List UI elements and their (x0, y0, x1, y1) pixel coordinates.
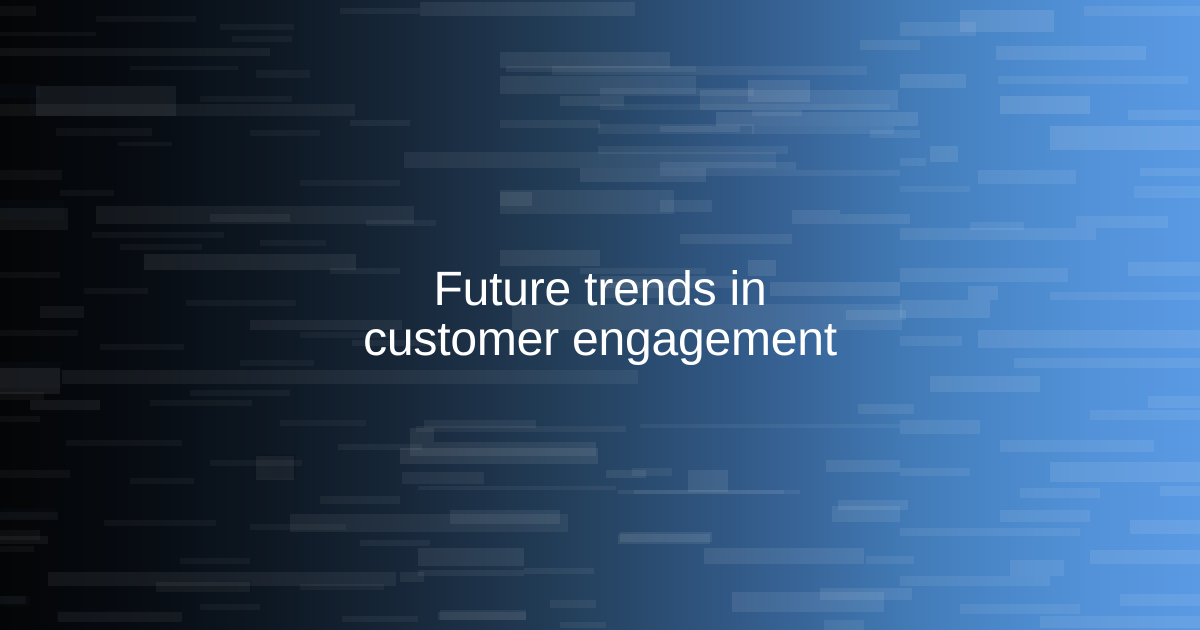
texture-bar (732, 592, 884, 612)
texture-bar (420, 2, 635, 16)
texture-bar (660, 162, 796, 170)
texture-bar (550, 600, 596, 608)
texture-bar (866, 556, 914, 564)
texture-bar (352, 340, 442, 346)
texture-bar (96, 206, 414, 224)
texture-bar (100, 344, 184, 350)
texture-bar (330, 268, 400, 274)
texture-bar (900, 74, 966, 88)
texture-bar (858, 404, 914, 414)
texture-bar (770, 282, 900, 296)
texture-bar (96, 16, 196, 22)
texture-bar (0, 84, 40, 98)
texture-bar (1084, 6, 1200, 16)
texture-bar (900, 22, 976, 36)
texture-bar (792, 210, 840, 224)
texture-bar (0, 508, 56, 518)
texture-bar (404, 152, 776, 168)
texture-bar (0, 416, 40, 422)
texture-bar (1000, 510, 1090, 522)
texture-bar (632, 468, 672, 476)
background-streak-texture (0, 0, 1200, 630)
texture-bar (290, 514, 568, 532)
texture-bar (400, 572, 424, 582)
texture-bar (40, 306, 84, 318)
texture-bar (200, 96, 292, 102)
texture-bar (190, 390, 290, 396)
texture-bar (688, 470, 728, 492)
texture-bar (930, 146, 958, 162)
texture-bar (598, 124, 754, 134)
texture-bar (748, 80, 810, 102)
texture-bar (900, 468, 970, 476)
texture-bar (1000, 440, 1154, 452)
texture-bar (506, 66, 696, 72)
texture-bar (400, 448, 598, 464)
texture-bar (300, 180, 400, 186)
texture-bar (598, 146, 788, 154)
texture-bar (900, 528, 1080, 536)
texture-bar (1076, 216, 1168, 228)
texture-bar (360, 540, 430, 546)
texture-bar (342, 616, 418, 622)
texture-bar (832, 506, 900, 522)
texture-bar (418, 570, 524, 576)
texture-bar (500, 192, 532, 206)
texture-bar (618, 490, 784, 494)
texture-bar (606, 470, 646, 478)
texture-bar (300, 584, 384, 590)
texture-bar (968, 286, 998, 300)
texture-bar (900, 300, 990, 318)
texture-bar (0, 470, 70, 478)
texture-bar (660, 126, 740, 132)
texture-bar (1134, 186, 1200, 198)
texture-bar (30, 400, 100, 410)
texture-bar (660, 170, 900, 176)
texture-bar (84, 288, 148, 294)
texture-bar (846, 310, 906, 320)
texture-bar (680, 234, 792, 244)
texture-bar (600, 276, 736, 288)
texture-bar (600, 104, 890, 110)
texture-bar (900, 268, 1068, 282)
texture-bar (1020, 488, 1100, 498)
texture-bar (440, 610, 526, 620)
texture-bar (500, 190, 674, 214)
texture-bar (240, 360, 314, 366)
texture-bar (0, 596, 30, 606)
texture-bar (618, 534, 710, 544)
texture-bar (0, 32, 96, 36)
texture-bar (752, 110, 802, 116)
texture-bar (1014, 358, 1200, 368)
texture-bar (1120, 594, 1200, 606)
texture-bar (256, 456, 294, 480)
texture-bar (232, 36, 292, 42)
texture-bar (620, 532, 712, 542)
texture-bar (978, 170, 1076, 184)
texture-bar (0, 536, 48, 544)
texture-bar (704, 548, 864, 564)
texture-bar (0, 330, 78, 336)
texture-bar (156, 582, 250, 592)
texture-bar (0, 392, 44, 400)
texture-bar (104, 520, 216, 526)
texture-bar (524, 568, 594, 574)
texture-bar (0, 512, 58, 520)
texture-bar (200, 604, 260, 610)
texture-bar (250, 524, 346, 530)
texture-bar (60, 190, 114, 196)
texture-bar (900, 228, 1096, 240)
social-share-banner: Future trends in customer engagement (0, 0, 1200, 630)
texture-bar (150, 400, 252, 406)
texture-bar (560, 96, 624, 106)
texture-bar (500, 120, 600, 128)
texture-bar (180, 558, 250, 564)
texture-bar (820, 588, 912, 600)
texture-bar (660, 200, 712, 212)
texture-bar (0, 48, 270, 56)
texture-bar (48, 572, 396, 586)
texture-bar (560, 622, 606, 628)
texture-bar (260, 240, 326, 246)
texture-bar (56, 128, 152, 136)
texture-bar (552, 66, 867, 75)
texture-bar (900, 420, 980, 434)
texture-bar (0, 104, 355, 116)
texture-bar (996, 46, 1146, 60)
texture-bar (366, 220, 436, 226)
texture-bar (0, 272, 60, 278)
texture-bar (0, 596, 26, 604)
texture-bar (960, 604, 1080, 614)
texture-bar (300, 332, 390, 338)
texture-bar (970, 222, 1024, 230)
texture-bar (450, 510, 560, 524)
texture-bar (748, 260, 776, 276)
texture-bar (640, 424, 900, 428)
texture-bar (62, 370, 638, 384)
texture-bar (424, 420, 536, 428)
texture-bar (438, 612, 526, 620)
texture-bar (0, 362, 62, 388)
texture-bar (930, 376, 1040, 392)
texture-bar (900, 336, 962, 346)
texture-bar (1090, 410, 1200, 420)
texture-bar (900, 158, 926, 166)
texture-bar (500, 76, 696, 94)
texture-bar (900, 576, 1050, 586)
texture-bar (824, 620, 864, 630)
texture-bar (1000, 96, 1090, 114)
texture-bar (960, 10, 1054, 32)
texture-bar (1040, 616, 1200, 628)
texture-bar (402, 472, 484, 484)
texture-bar (410, 442, 596, 456)
texture-bar (634, 490, 800, 494)
texture-bar (500, 52, 670, 68)
texture-bar (1160, 486, 1200, 496)
texture-bar (0, 208, 68, 230)
texture-bar (130, 66, 238, 70)
texture-bar (0, 368, 60, 394)
texture-bar (418, 548, 524, 566)
texture-bar (1050, 292, 1200, 300)
texture-bar (220, 24, 294, 30)
texture-bar (256, 70, 310, 78)
texture-bar (252, 454, 296, 478)
texture-bar (30, 86, 176, 114)
texture-bar (580, 268, 706, 274)
texture-bar (1128, 262, 1200, 276)
page-title: Future trends in customer engagement (150, 265, 1050, 365)
texture-bar (1140, 168, 1200, 176)
texture-bar (0, 546, 34, 552)
texture-bar (156, 580, 252, 592)
texture-bar (118, 142, 172, 146)
texture-bar (860, 40, 920, 50)
texture-bar (1010, 560, 1064, 576)
texture-bar (0, 200, 64, 220)
texture-bar (838, 500, 908, 510)
texture-bar (186, 300, 296, 306)
texture-bar (0, 530, 40, 540)
texture-bar (210, 460, 302, 466)
texture-bar (900, 186, 970, 192)
texture-bar (250, 130, 320, 136)
texture-bar (1130, 520, 1200, 534)
texture-bar (410, 428, 434, 442)
texture-bar (418, 486, 616, 490)
texture-bar (580, 168, 706, 182)
texture-bar (1050, 462, 1200, 482)
texture-bar (600, 282, 690, 298)
texture-bar (998, 76, 1188, 84)
texture-bar (512, 304, 902, 330)
texture-bar (66, 440, 182, 446)
texture-bar (1050, 126, 1200, 150)
texture-bar (1148, 396, 1200, 408)
texture-bar (0, 6, 36, 16)
texture-bar (36, 86, 176, 116)
texture-bar (92, 232, 224, 238)
texture-bar (978, 330, 1200, 348)
headline-container: Future trends in customer engagement (0, 0, 1200, 630)
texture-bar (752, 126, 894, 134)
texture-bar (700, 90, 898, 110)
texture-bar (416, 426, 626, 432)
texture-bar (840, 214, 910, 224)
texture-bar (130, 478, 194, 484)
texture-bar (716, 112, 918, 126)
texture-bar (120, 244, 202, 250)
texture-bar (826, 460, 900, 472)
texture-bar (1128, 110, 1200, 120)
texture-bar (56, 610, 184, 622)
texture-bar (338, 444, 422, 450)
texture-bar (350, 120, 410, 126)
texture-bar (340, 8, 420, 14)
texture-bar (144, 254, 356, 270)
texture-bar (280, 420, 366, 426)
texture-bar (0, 170, 62, 180)
texture-bar (250, 320, 402, 330)
texture-bar (500, 250, 600, 266)
texture-bar (600, 88, 754, 96)
texture-bar (870, 130, 920, 138)
texture-bar (58, 612, 182, 622)
texture-bar (1090, 550, 1200, 564)
texture-bar (320, 496, 400, 504)
texture-bar (210, 214, 290, 222)
